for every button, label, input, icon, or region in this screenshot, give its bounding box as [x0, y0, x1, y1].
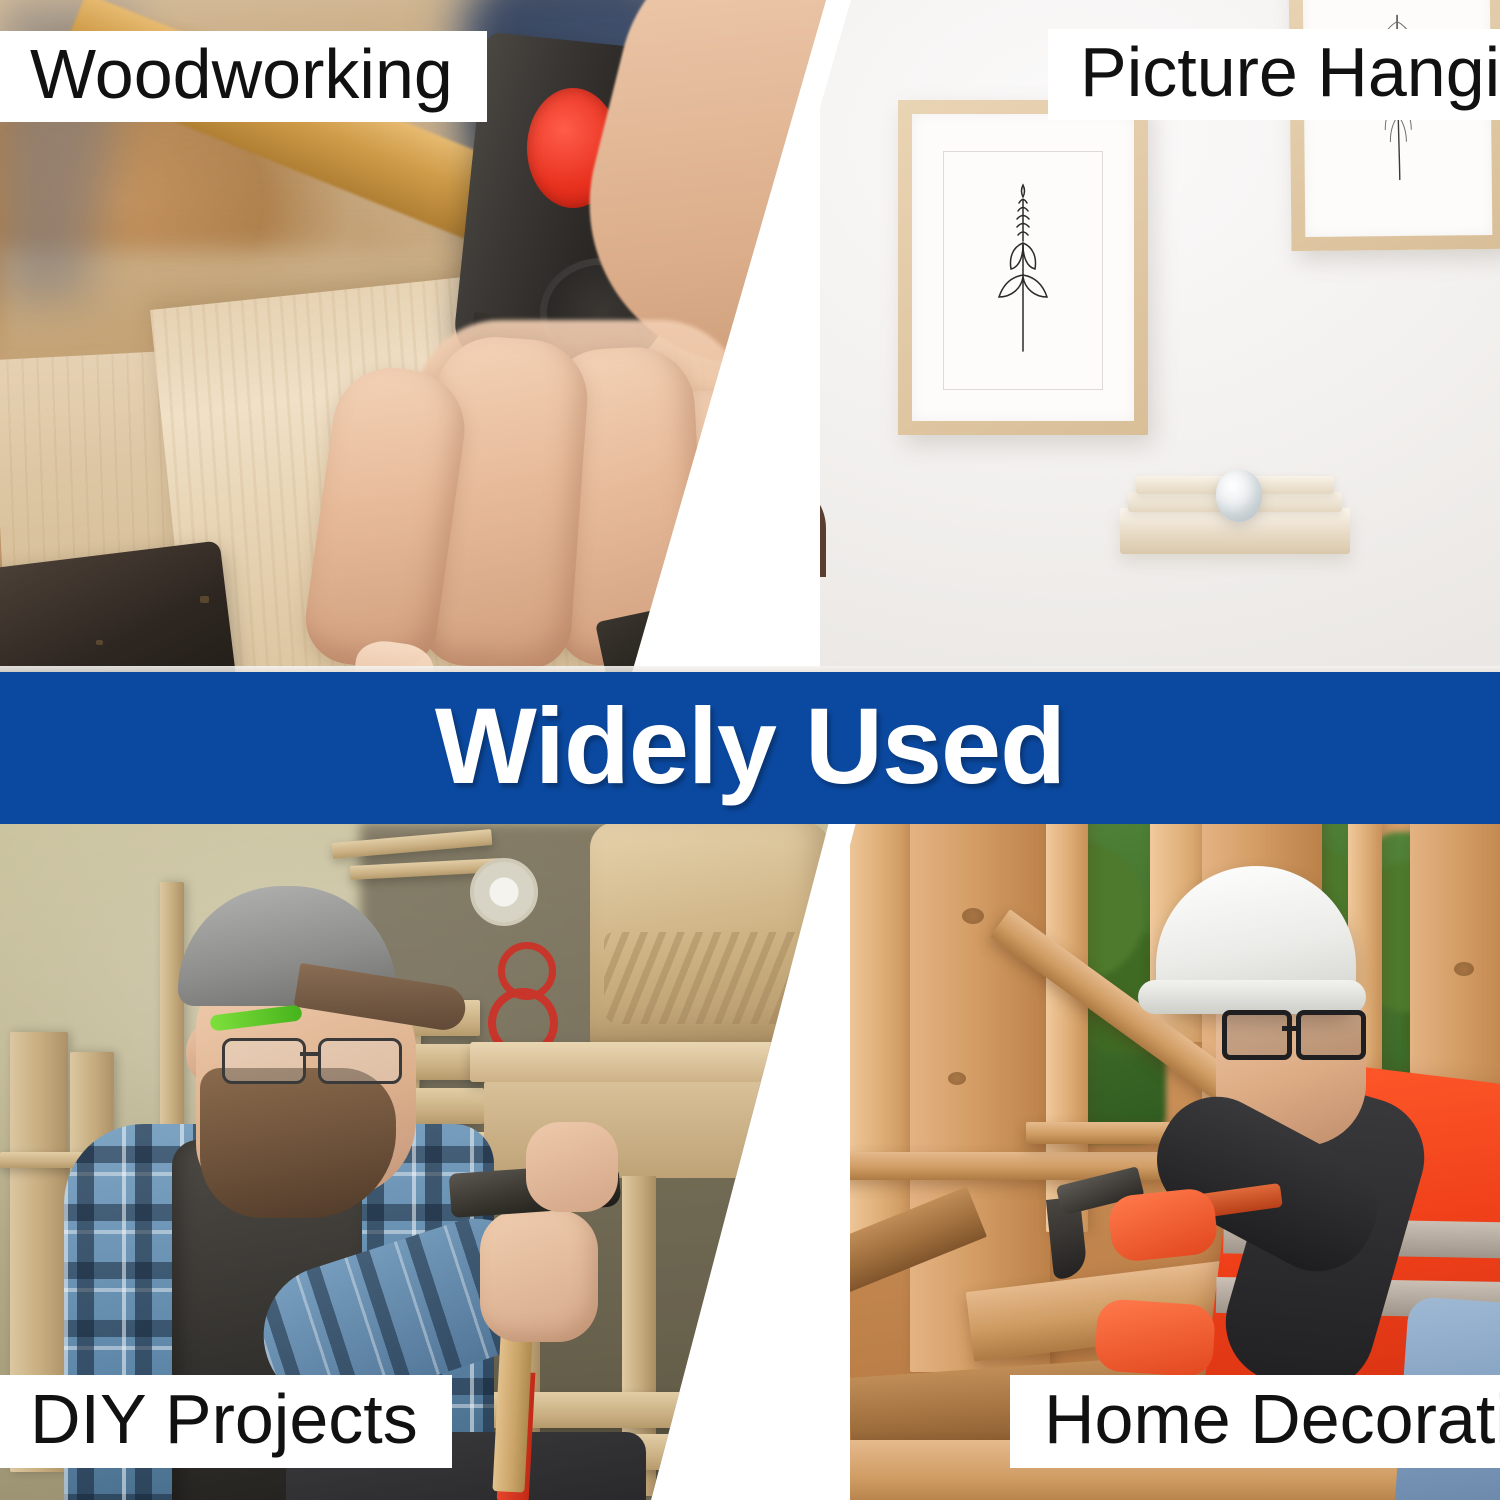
- label-woodworking: Woodworking: [0, 31, 487, 122]
- widely-used-collage: Widely Used Woodworking Picture Hanging …: [0, 0, 1500, 1500]
- glasses-lens: [318, 1038, 402, 1084]
- glasses-bridge: [300, 1052, 320, 1056]
- label-woodworking-text: Woodworking: [30, 39, 453, 109]
- steadying-hand: [526, 1122, 618, 1212]
- picture-frame-botanical: [898, 100, 1148, 435]
- label-home-decoration-text: Home Decoration: [1044, 1384, 1500, 1454]
- label-picture-hanging: Picture Hanging: [1048, 29, 1500, 120]
- glass-orb: [1216, 470, 1262, 522]
- wood-knot: [962, 908, 984, 924]
- wood-speck: [200, 596, 209, 603]
- eyeglasses-icon: [1222, 1010, 1358, 1050]
- frame-mat: [912, 114, 1134, 421]
- glasses-lens: [1222, 1010, 1292, 1060]
- work-glove: [1094, 1298, 1217, 1378]
- widely-used-banner: Widely Used: [0, 672, 1500, 824]
- banner-title: Widely Used: [435, 692, 1065, 800]
- label-diy-projects: DIY Projects: [0, 1375, 452, 1468]
- glasses-lens: [1296, 1010, 1366, 1060]
- label-diy-projects-text: DIY Projects: [30, 1384, 418, 1454]
- beard: [200, 1068, 396, 1218]
- construction-worker: [1130, 862, 1500, 1422]
- wood-speck: [96, 640, 103, 645]
- botanical-sketch-icon: [975, 183, 1071, 353]
- wood-knot: [948, 1072, 966, 1085]
- label-picture-hanging-text: Picture Hanging: [1080, 37, 1500, 107]
- hand-gripping-hammer: [480, 1210, 598, 1342]
- work-glove: [1107, 1187, 1219, 1264]
- label-home-decoration: Home Decoration: [1010, 1375, 1500, 1468]
- safety-glasses-icon: [222, 1038, 402, 1078]
- glasses-lens: [222, 1038, 306, 1084]
- carved-wood-ornament: [590, 822, 830, 1047]
- hard-hat-brim: [1138, 980, 1366, 1014]
